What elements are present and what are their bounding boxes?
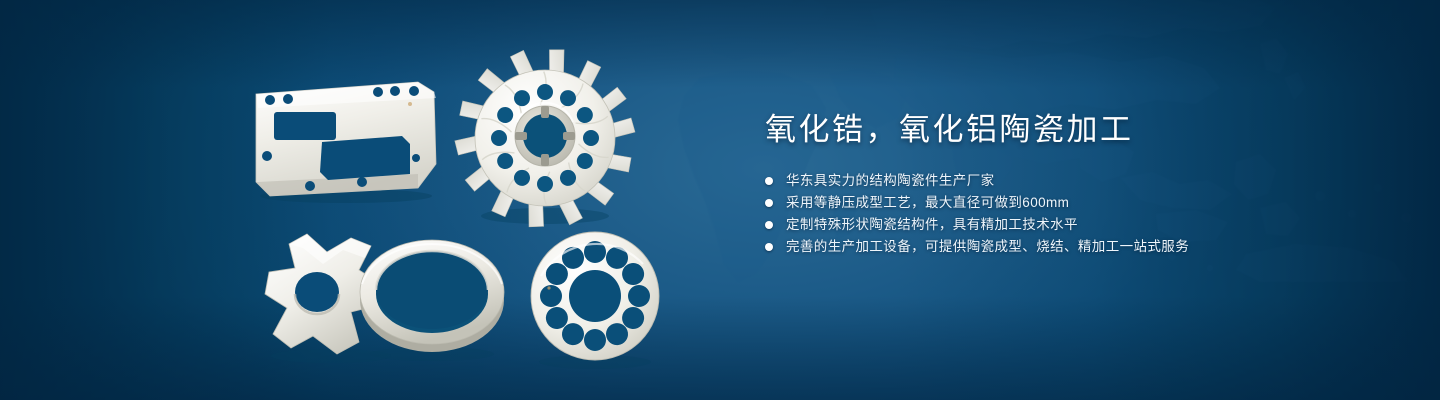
feature-text: 采用等静压成型工艺，最大直径可做到600mm xyxy=(786,192,1069,214)
list-item: 采用等静压成型工艺，最大直径可做到600mm xyxy=(765,192,1385,214)
bullet-dot-icon xyxy=(765,177,773,185)
ceramic-impeller-disc xyxy=(455,52,635,227)
bullet-dot-icon xyxy=(765,221,773,229)
banner-copy: 氧化锆，氧化铝陶瓷加工 华东具实力的结构陶瓷件生产厂家 采用等静压成型工艺，最大… xyxy=(765,108,1385,258)
bullet-dot-icon xyxy=(765,199,773,207)
feature-text: 华东具实力的结构陶瓷件生产厂家 xyxy=(786,170,995,192)
hero-banner: 氧化锆，氧化铝陶瓷加工 华东具实力的结构陶瓷件生产厂家 采用等静压成型工艺，最大… xyxy=(0,0,1440,400)
list-item: 定制特殊形状陶瓷结构件，具有精加工技术水平 xyxy=(765,214,1385,236)
product-image-cluster xyxy=(0,0,720,400)
ceramic-perforated-disc xyxy=(525,230,670,370)
feature-text: 定制特殊形状陶瓷结构件，具有精加工技术水平 xyxy=(786,214,1078,236)
bullet-dot-icon xyxy=(765,243,773,251)
feature-text: 完善的生产加工设备，可提供陶瓷成型、烧结、精加工一站式服务 xyxy=(786,236,1189,258)
feature-list: 华东具实力的结构陶瓷件生产厂家 采用等静压成型工艺，最大直径可做到600mm 定… xyxy=(765,170,1385,258)
ceramic-ring xyxy=(352,232,512,362)
list-item: 完善的生产加工设备，可提供陶瓷成型、烧结、精加工一站式服务 xyxy=(765,236,1385,258)
banner-headline: 氧化锆，氧化铝陶瓷加工 xyxy=(765,108,1385,152)
ceramic-machined-plate xyxy=(250,78,440,203)
list-item: 华东具实力的结构陶瓷件生产厂家 xyxy=(765,170,1385,192)
